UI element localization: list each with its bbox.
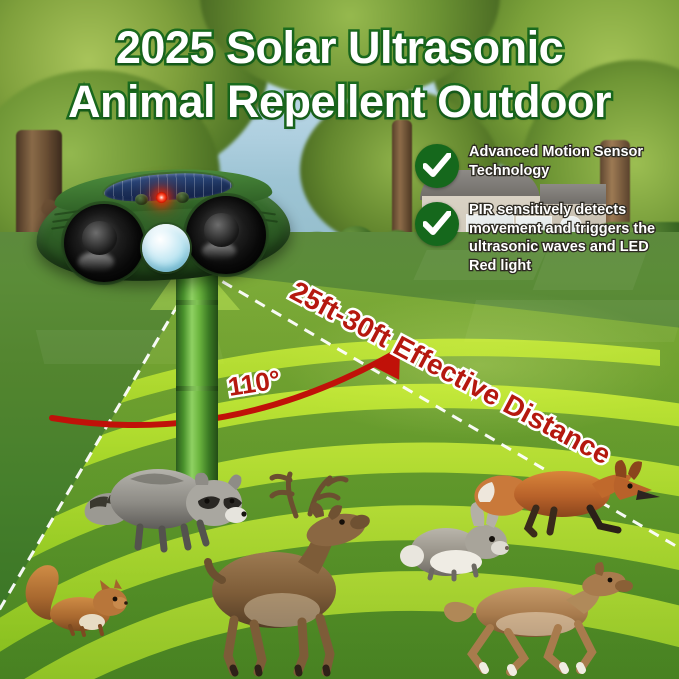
squirrel-eye bbox=[113, 597, 118, 602]
deer-ear-left bbox=[310, 502, 324, 518]
feature-list: Advanced Motion Sensor Technology PIR se… bbox=[415, 142, 679, 287]
deer-hooves bbox=[233, 668, 327, 673]
fox-snout bbox=[636, 490, 660, 500]
mini-sensor-right bbox=[176, 192, 189, 203]
page-title-line-2: Animal Repellent Outdoor bbox=[0, 76, 679, 128]
solar-ultrasonic-repeller-device bbox=[36, 166, 290, 288]
deer-tail bbox=[208, 562, 222, 580]
pir-dome-sensor bbox=[142, 224, 190, 272]
red-led-indicator bbox=[156, 192, 167, 203]
pole-band-1 bbox=[176, 300, 218, 305]
page-title-line-1: 2025 Solar Ultrasonic bbox=[0, 22, 679, 74]
squirrel-nose bbox=[124, 601, 128, 605]
fox-eye bbox=[627, 483, 632, 488]
dog-eye bbox=[608, 578, 613, 583]
right-speaker bbox=[186, 196, 266, 274]
check-icon bbox=[415, 144, 459, 188]
product-marketing-image: 2025 Solar Ultrasonic Animal Repellent O… bbox=[0, 0, 679, 679]
right-speaker-gloss bbox=[202, 242, 236, 260]
mow-stripe-3 bbox=[464, 300, 679, 342]
dog-tail bbox=[444, 602, 474, 622]
rabbit-tail bbox=[400, 545, 424, 567]
fox-front-legs bbox=[590, 508, 618, 530]
feature-text-1: Advanced Motion Sensor Technology bbox=[469, 142, 679, 180]
animal-fox bbox=[470, 450, 660, 545]
animal-squirrel bbox=[14, 558, 140, 636]
left-speaker bbox=[64, 204, 144, 282]
fox-body bbox=[514, 471, 610, 517]
dog-paws bbox=[483, 666, 582, 672]
animal-dog bbox=[432, 562, 632, 678]
dog-ear bbox=[595, 562, 604, 576]
squirrel-ear-right bbox=[114, 579, 122, 589]
fox-ear-left bbox=[615, 460, 627, 478]
deer-eye bbox=[339, 519, 345, 525]
check-icon bbox=[415, 202, 459, 246]
feature-item-1: Advanced Motion Sensor Technology bbox=[415, 142, 679, 188]
left-speaker-gloss bbox=[78, 252, 114, 272]
dog-muzzle bbox=[615, 580, 633, 592]
rabbit-nose bbox=[505, 546, 509, 550]
pole-band-2 bbox=[176, 386, 218, 391]
animal-deer bbox=[178, 460, 378, 675]
feature-text-2: PIR sensitively detects movement and tri… bbox=[469, 200, 679, 275]
mini-sensor-left bbox=[135, 194, 148, 205]
feature-item-2: PIR sensitively detects movement and tri… bbox=[415, 200, 679, 275]
